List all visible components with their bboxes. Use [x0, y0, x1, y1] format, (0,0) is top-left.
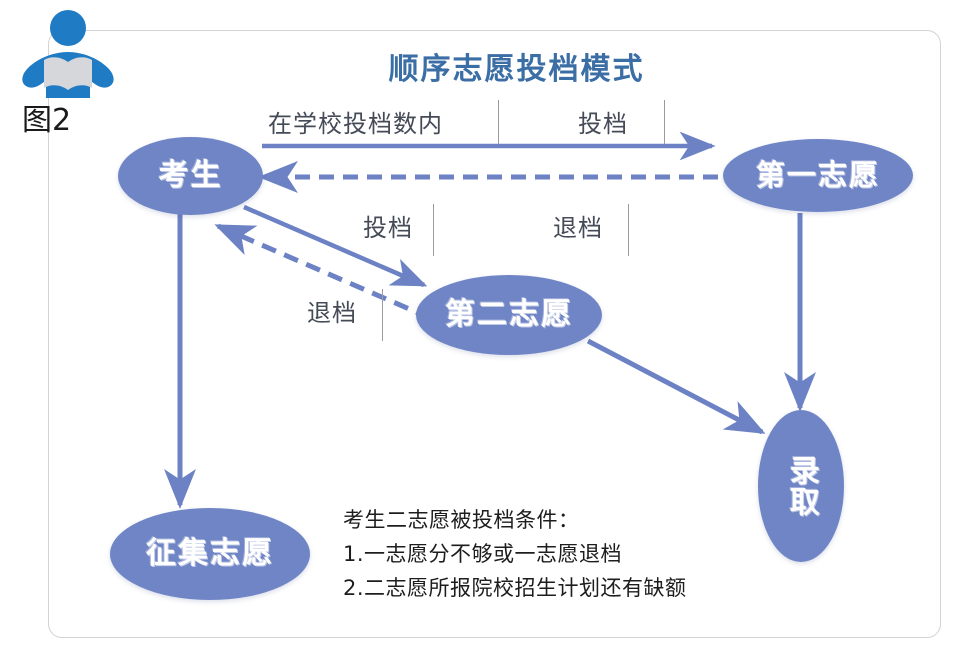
note-block: 考生二志愿被投档条件： 1.一志愿分不够或一志愿退档 2.二志愿所报院校招生计划…	[343, 503, 687, 605]
tick-line-1	[498, 100, 499, 144]
note-heading: 考生二志愿被投档条件：	[343, 503, 687, 537]
node-second-choice-label: 第二志愿	[445, 299, 573, 331]
page-title: 顺序志愿投档模式	[0, 44, 973, 88]
tick-line-4	[628, 204, 629, 256]
node-kaosheng-label: 考生	[159, 160, 223, 192]
edge-label-mid-submit: 投档	[363, 208, 413, 243]
tick-line-2	[664, 100, 665, 144]
node-first-choice[interactable]: 第一志愿	[723, 139, 913, 212]
figure-badge-label: 图2	[22, 95, 71, 139]
node-second-choice[interactable]: 第二志愿	[416, 275, 602, 355]
edge-label-lower-reject: 退档	[307, 293, 357, 328]
node-collected-choice-label: 征集志愿	[146, 538, 274, 570]
node-first-choice-label: 第一志愿	[756, 160, 880, 190]
page-title-text: 顺序志愿投档模式	[329, 52, 645, 87]
edge-label-within-school-quota: 在学校投档数内	[268, 104, 443, 139]
note-item-1: 1.一志愿分不够或一志愿退档	[343, 537, 687, 571]
diagram-canvas: 考生 第一志愿 第二志愿 录取 征集志愿 在学校投档数内 投档 投档 退档 退档…	[0, 0, 973, 662]
tick-line-3	[433, 204, 434, 256]
node-collected-choice[interactable]: 征集志愿	[110, 508, 310, 600]
tick-line-5	[382, 289, 383, 341]
node-admitted-label: 录取	[784, 455, 818, 517]
edge-label-top-submit: 投档	[578, 104, 628, 139]
node-admitted[interactable]: 录取	[758, 410, 844, 562]
edge-label-mid-reject: 退档	[553, 208, 603, 243]
note-item-2: 2.二志愿所报院校招生计划还有缺额	[343, 571, 687, 605]
node-kaosheng[interactable]: 考生	[118, 137, 263, 215]
